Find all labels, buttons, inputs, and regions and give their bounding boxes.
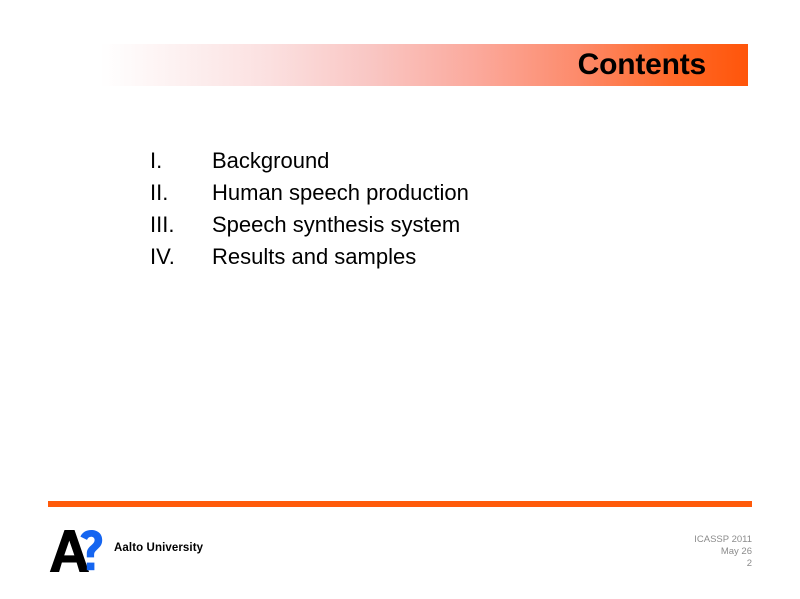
- list-item-label: Background: [212, 145, 329, 177]
- presentation-date: May 26: [694, 546, 752, 558]
- conference-name: ICASSP 2011: [694, 534, 752, 546]
- list-item-label: Speech synthesis system: [212, 209, 460, 241]
- page-number: 2: [694, 558, 752, 570]
- contents-list: I. Background II. Human speech productio…: [150, 145, 710, 273]
- list-item-numeral: I.: [150, 145, 212, 177]
- slide-canvas: Contents I. Background II. Human speech …: [0, 0, 800, 599]
- list-item[interactable]: II. Human speech production: [150, 177, 710, 209]
- list-item-numeral: II.: [150, 177, 212, 209]
- list-item[interactable]: IV. Results and samples: [150, 241, 710, 273]
- list-item-label: Results and samples: [212, 241, 416, 273]
- title-band: Contents: [100, 44, 748, 86]
- footer-divider: [48, 501, 752, 507]
- aalto-a-question-mark-icon: [48, 528, 104, 574]
- list-item-numeral: IV.: [150, 241, 212, 273]
- organization-name: Aalto University: [114, 542, 203, 560]
- slide-footer: Aalto University ICASSP 2011 May 26 2: [0, 520, 800, 590]
- list-item-numeral: III.: [150, 209, 212, 241]
- page-title: Contents: [578, 50, 742, 80]
- footer-meta: ICASSP 2011 May 26 2: [694, 534, 752, 570]
- list-item[interactable]: I. Background: [150, 145, 710, 177]
- list-item-label: Human speech production: [212, 177, 469, 209]
- list-item[interactable]: III. Speech synthesis system: [150, 209, 710, 241]
- aalto-logo: Aalto University: [48, 528, 203, 574]
